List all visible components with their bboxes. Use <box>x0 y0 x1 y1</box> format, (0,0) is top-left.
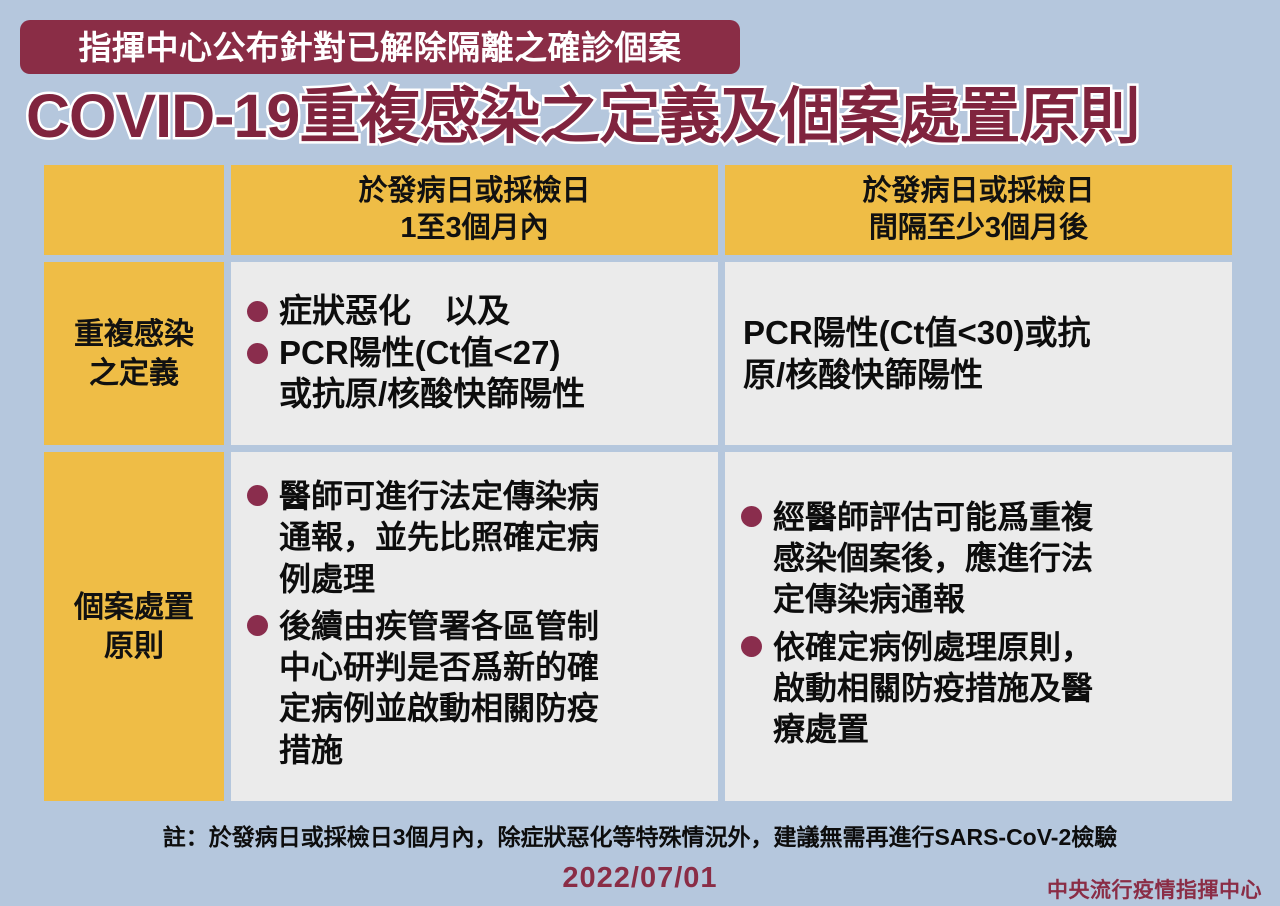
bullet-text: 經醫師評估可能爲重複感染個案後，應進行法定傳染病通報 <box>773 499 1093 618</box>
list-item: 醫師可進行法定傳染病通報，並先比照確定病例處理 <box>245 476 708 600</box>
column-header-1-line1: 於發病日或採檢日 <box>358 175 590 207</box>
list-item: PCR陽性(Ct值<27)或抗原/核酸快篩陽性 <box>245 333 708 414</box>
bullet-list-procedure-left: 醫師可進行法定傳染病通報，並先比照確定病例處理 後續由疾管署各區管制中心研判是否… <box>245 476 708 777</box>
row-label-definition-line2: 之定義 <box>89 357 179 390</box>
table-row-procedure: 個案處置 原則 醫師可進行法定傳染病通報，並先比照確定病例處理 後續由疾管署各區… <box>44 452 1232 801</box>
definition-right-text: PCR陽性(Ct值<30)或抗原/核酸快篩陽性 <box>739 312 1222 395</box>
bullet-text: 後續由疾管署各區管制中心研判是否爲新的確定病例並啟動相關防疫措施 <box>279 608 599 768</box>
row-label-procedure-line2: 原則 <box>104 630 164 663</box>
list-item: 經醫師評估可能爲重複感染個案後，應進行法定傳染病通報 <box>739 497 1222 621</box>
cell-procedure-within-3-months: 醫師可進行法定傳染病通報，並先比照確定病例處理 後續由疾管署各區管制中心研判是否… <box>231 452 718 801</box>
column-header-1-line2: 1至3個月內 <box>400 212 548 244</box>
column-header-2-line2: 間隔至少3個月後 <box>869 212 1088 244</box>
bullet-text: 症狀惡化 以及 <box>279 292 510 329</box>
table-header-row: 於發病日或採檢日 1至3個月內 於發病日或採檢日 間隔至少3個月後 <box>44 165 1232 255</box>
row-label-procedure-line1: 個案處置 <box>74 591 194 624</box>
table-corner-cell <box>44 165 224 255</box>
column-header-2: 於發病日或採檢日 間隔至少3個月後 <box>725 165 1232 255</box>
row-label-definition: 重複感染 之定義 <box>44 262 224 445</box>
bullet-text: PCR陽性(Ct值<27)或抗原/核酸快篩陽性 <box>279 334 585 411</box>
bullet-list-definition-left: 症狀惡化 以及 PCR陽性(Ct值<27)或抗原/核酸快篩陽性 <box>245 291 708 416</box>
list-item: 後續由疾管署各區管制中心研判是否爲新的確定病例並啟動相關防疫措施 <box>245 606 708 771</box>
list-item: 依確定病例處理原則，啟動相關防疫措施及醫療處置 <box>739 627 1222 751</box>
column-header-1-text: 於發病日或採檢日 1至3個月內 <box>358 173 590 247</box>
principles-table: 於發病日或採檢日 1至3個月內 於發病日或採檢日 間隔至少3個月後 重複感染 之… <box>44 165 1232 808</box>
column-header-2-line1: 於發病日或採檢日 <box>862 175 1094 207</box>
table-row-definition: 重複感染 之定義 症狀惡化 以及 PCR陽性(Ct值<27)或抗原/核酸快篩陽性… <box>44 262 1232 445</box>
column-header-1: 於發病日或採檢日 1至3個月內 <box>231 165 718 255</box>
bullet-text: 依確定病例處理原則，啟動相關防疫措施及醫療處置 <box>773 629 1093 748</box>
issuer-credit: 中央流行疫情指揮中心 <box>1047 874 1262 904</box>
announcement-banner: 指揮中心公布針對已解除隔離之確診個案 <box>20 20 740 74</box>
page-title: COVID-19重複感染之定義及個案處置原則 <box>26 78 1266 154</box>
bullet-list-procedure-right: 經醫師評估可能爲重複感染個案後，應進行法定傳染病通報 依確定病例處理原則，啟動相… <box>739 497 1222 757</box>
bullet-text: 醫師可進行法定傳染病通報，並先比照確定病例處理 <box>279 478 599 597</box>
footnote: 註：於發病日或採檢日3個月內，除症狀惡化等特殊情況外，建議無需再進行SARS-C… <box>0 818 1280 852</box>
row-label-procedure: 個案處置 原則 <box>44 452 224 801</box>
column-header-2-text: 於發病日或採檢日 間隔至少3個月後 <box>862 173 1094 247</box>
cell-definition-within-3-months: 症狀惡化 以及 PCR陽性(Ct值<27)或抗原/核酸快篩陽性 <box>231 262 718 445</box>
announcement-banner-label: 指揮中心公布針對已解除隔離之確診個案 <box>79 31 682 64</box>
list-item: 症狀惡化 以及 <box>245 291 708 331</box>
cell-definition-after-3-months: PCR陽性(Ct值<30)或抗原/核酸快篩陽性 <box>725 262 1232 445</box>
cell-procedure-after-3-months: 經醫師評估可能爲重複感染個案後，應進行法定傳染病通報 依確定病例處理原則，啟動相… <box>725 452 1232 801</box>
row-label-definition-line1: 重複感染 <box>74 318 194 351</box>
